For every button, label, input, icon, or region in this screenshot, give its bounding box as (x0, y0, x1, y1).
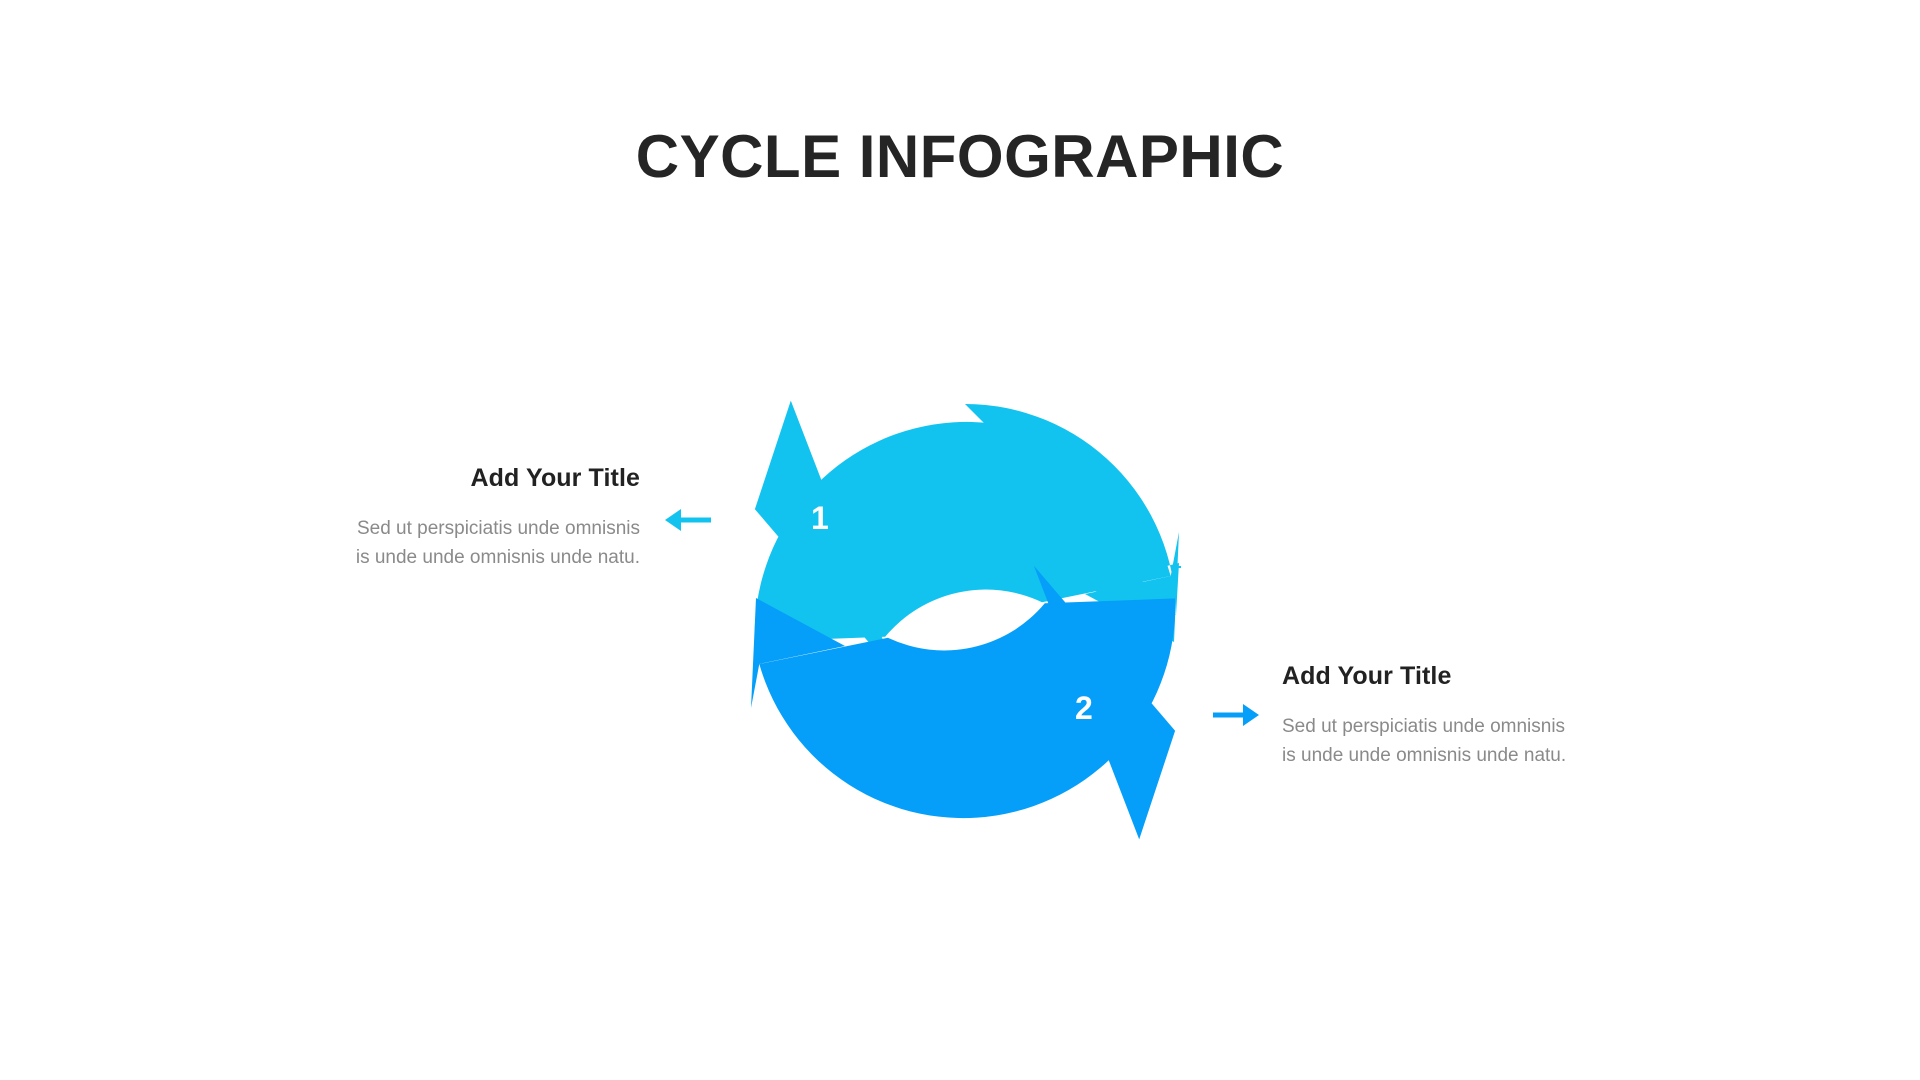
connector-left (665, 507, 711, 533)
callout-right-body-line-1: Sed ut perspiciatis unde omnisnis (1282, 712, 1642, 741)
callout-left-body-line-1: Sed ut perspiciatis unde omnisnis (280, 514, 640, 543)
cycle-diagram: 1 2 (730, 380, 1200, 860)
slide-canvas: CYCLE INFOGRAPHIC (0, 0, 1920, 1080)
callout-right-body-line-2: is unde unde omnisnis unde natu. (1282, 741, 1642, 770)
arrow-left-icon (665, 507, 711, 533)
arrow-right-icon (1213, 702, 1259, 728)
step-number-2: 2 (1075, 692, 1093, 724)
page-title: CYCLE INFOGRAPHIC (0, 124, 1920, 190)
callout-left-title: Add Your Title (280, 463, 640, 493)
cycle-arrows-svg (730, 380, 1200, 860)
callout-left-body-line-2: is unde unde omnisnis unde natu. (280, 543, 640, 572)
callout-right-body: Sed ut perspiciatis unde omnisnis is und… (1282, 712, 1642, 771)
callout-left[interactable]: Add Your Title Sed ut perspiciatis unde … (280, 463, 640, 573)
connector-right (1213, 702, 1259, 728)
callout-right[interactable]: Add Your Title Sed ut perspiciatis unde … (1282, 661, 1642, 771)
step-number-1: 1 (811, 502, 829, 534)
callout-left-body: Sed ut perspiciatis unde omnisnis is und… (280, 514, 640, 573)
callout-right-title: Add Your Title (1282, 661, 1642, 691)
